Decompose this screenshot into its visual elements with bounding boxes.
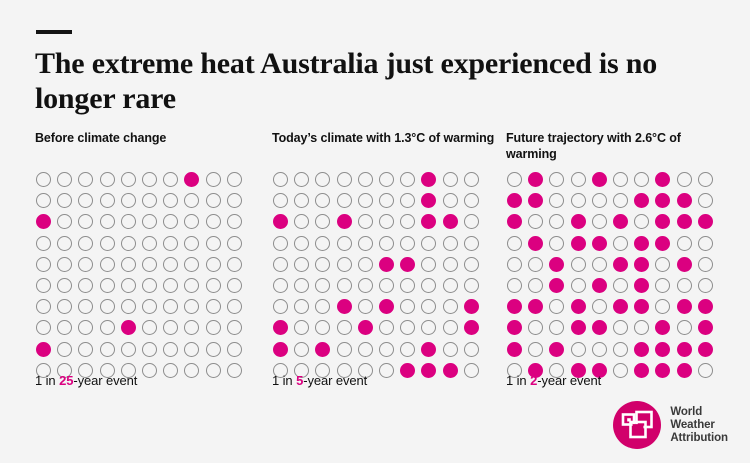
dot-empty — [184, 236, 199, 251]
dot-empty — [464, 193, 479, 208]
dot-filled — [677, 214, 692, 229]
dot-filled — [634, 363, 649, 378]
dot-empty — [337, 257, 352, 272]
dot-empty — [163, 278, 178, 293]
wwa-logo-icon — [613, 401, 661, 449]
squares-icon — [613, 401, 661, 449]
dot-empty — [337, 193, 352, 208]
dot-empty — [315, 172, 330, 187]
dot-empty — [443, 193, 458, 208]
dot-empty — [592, 193, 607, 208]
dot-filled — [634, 236, 649, 251]
dot-empty — [400, 278, 415, 293]
dot-empty — [507, 257, 522, 272]
dot-empty — [464, 236, 479, 251]
dot-filled — [528, 299, 543, 314]
dot-empty — [57, 236, 72, 251]
dot-filled — [677, 363, 692, 378]
dot-empty — [421, 320, 436, 335]
dot-filled — [315, 342, 330, 357]
dot-empty — [592, 342, 607, 357]
dot-empty — [78, 172, 93, 187]
dot-empty — [294, 172, 309, 187]
dot-empty — [613, 320, 628, 335]
dot-empty — [315, 299, 330, 314]
page-title: The extreme heat Australia just experien… — [35, 46, 715, 116]
dot-empty — [57, 172, 72, 187]
dot-empty — [36, 299, 51, 314]
dot-empty — [464, 363, 479, 378]
logo-line-1: World — [670, 406, 728, 419]
dot-filled — [655, 172, 670, 187]
dot-filled — [507, 320, 522, 335]
dot-empty — [57, 193, 72, 208]
dot-filled — [400, 257, 415, 272]
dot-empty — [400, 172, 415, 187]
panel-heading: Future trajectory with 2.6°C of warming — [506, 130, 731, 166]
dot-empty — [400, 193, 415, 208]
dot-empty — [421, 299, 436, 314]
dot-empty — [634, 214, 649, 229]
dot-filled — [613, 299, 628, 314]
dot-filled — [592, 278, 607, 293]
dot-empty — [184, 193, 199, 208]
dot-filled — [592, 236, 607, 251]
dot-empty — [315, 278, 330, 293]
dot-filled — [571, 236, 586, 251]
dot-empty — [36, 320, 51, 335]
dot-empty — [549, 214, 564, 229]
dot-empty — [655, 299, 670, 314]
dot-empty — [294, 236, 309, 251]
dot-filled — [549, 342, 564, 357]
dot-empty — [549, 193, 564, 208]
wwa-logo-text: World Weather Attribution — [670, 406, 728, 445]
dot-empty — [78, 342, 93, 357]
dot-filled — [592, 320, 607, 335]
dot-filled — [655, 363, 670, 378]
dot-empty — [163, 299, 178, 314]
dot-empty — [677, 236, 692, 251]
dot-filled — [528, 172, 543, 187]
dot-empty — [358, 172, 373, 187]
caption-number: 25 — [59, 373, 73, 388]
caption-prefix: 1 in — [506, 373, 530, 388]
dot-empty — [36, 172, 51, 187]
dot-empty — [227, 257, 242, 272]
dot-empty — [443, 320, 458, 335]
dot-empty — [100, 172, 115, 187]
dot-empty — [57, 299, 72, 314]
dot-empty — [142, 193, 157, 208]
dot-filled — [507, 299, 522, 314]
dot-filled — [36, 342, 51, 357]
dot-empty — [184, 214, 199, 229]
dot-empty — [163, 193, 178, 208]
dot-empty — [163, 320, 178, 335]
dot-empty — [592, 257, 607, 272]
dot-empty — [549, 172, 564, 187]
caption-prefix: 1 in — [35, 373, 59, 388]
dot-empty — [206, 363, 221, 378]
dot-empty — [100, 342, 115, 357]
dot-filled — [655, 214, 670, 229]
dot-empty — [698, 278, 713, 293]
dot-empty — [163, 214, 178, 229]
dot-empty — [400, 299, 415, 314]
dot-empty — [142, 342, 157, 357]
dot-filled — [655, 236, 670, 251]
dot-empty — [57, 257, 72, 272]
dot-empty — [57, 342, 72, 357]
title-rule — [36, 30, 72, 34]
dot-empty — [184, 257, 199, 272]
caption-prefix: 1 in — [272, 373, 296, 388]
dot-empty — [507, 236, 522, 251]
dot-empty — [163, 236, 178, 251]
dot-filled — [421, 214, 436, 229]
dot-empty — [294, 257, 309, 272]
dot-filled — [421, 193, 436, 208]
dot-empty — [36, 257, 51, 272]
dot-empty — [273, 257, 288, 272]
dot-empty — [206, 342, 221, 357]
dot-empty — [36, 236, 51, 251]
dot-empty — [163, 363, 178, 378]
dot-filled — [379, 257, 394, 272]
dot-filled — [634, 342, 649, 357]
dot-empty — [358, 257, 373, 272]
dot-empty — [571, 278, 586, 293]
dot-empty — [206, 257, 221, 272]
wwa-logo: World Weather Attribution — [613, 401, 728, 449]
dot-filled — [507, 342, 522, 357]
dot-empty — [121, 342, 136, 357]
dot-empty — [206, 193, 221, 208]
dot-empty — [507, 278, 522, 293]
dot-empty — [206, 299, 221, 314]
dot-empty — [142, 172, 157, 187]
dot-empty — [464, 278, 479, 293]
dot-filled — [379, 299, 394, 314]
caption-suffix: -year event — [73, 373, 137, 388]
logo-line-3: Attribution — [670, 432, 728, 445]
dot-empty — [142, 236, 157, 251]
dot-empty — [528, 320, 543, 335]
dot-empty — [163, 342, 178, 357]
dot-empty — [634, 172, 649, 187]
dot-empty — [379, 214, 394, 229]
dot-empty — [337, 278, 352, 293]
dot-empty — [337, 172, 352, 187]
dot-empty — [78, 236, 93, 251]
dot-empty — [184, 363, 199, 378]
dot-filled — [698, 320, 713, 335]
dot-filled — [121, 320, 136, 335]
dot-empty — [227, 236, 242, 251]
dot-empty — [78, 193, 93, 208]
dot-empty — [400, 236, 415, 251]
dot-empty — [227, 172, 242, 187]
dot-empty — [358, 342, 373, 357]
dot-empty — [379, 193, 394, 208]
dot-empty — [698, 257, 713, 272]
dot-empty — [443, 278, 458, 293]
dot-empty — [273, 278, 288, 293]
dot-empty — [549, 299, 564, 314]
dot-filled — [677, 299, 692, 314]
dot-empty — [698, 172, 713, 187]
dot-empty — [227, 278, 242, 293]
dot-empty — [206, 320, 221, 335]
dot-filled — [698, 299, 713, 314]
dot-empty — [337, 236, 352, 251]
dot-empty — [379, 320, 394, 335]
caption-suffix: -year event — [537, 373, 601, 388]
dot-filled — [421, 342, 436, 357]
dot-empty — [507, 172, 522, 187]
dot-empty — [379, 363, 394, 378]
dot-filled — [358, 320, 373, 335]
dot-empty — [358, 278, 373, 293]
dot-empty — [227, 320, 242, 335]
dot-empty — [358, 236, 373, 251]
dot-empty — [337, 342, 352, 357]
dot-empty — [528, 214, 543, 229]
dot-empty — [227, 299, 242, 314]
dot-empty — [528, 257, 543, 272]
dot-empty — [613, 342, 628, 357]
panel-heading: Before climate change — [35, 130, 260, 166]
dot-filled — [273, 214, 288, 229]
dot-filled — [655, 193, 670, 208]
dot-filled — [634, 278, 649, 293]
dot-empty — [142, 363, 157, 378]
dot-empty — [100, 214, 115, 229]
dot-empty — [315, 193, 330, 208]
dot-filled — [443, 214, 458, 229]
dot-empty — [163, 257, 178, 272]
dot-empty — [592, 214, 607, 229]
dot-filled — [571, 214, 586, 229]
dot-empty — [57, 320, 72, 335]
dot-empty — [184, 320, 199, 335]
dot-empty — [400, 214, 415, 229]
dot-filled — [421, 363, 436, 378]
dot-empty — [121, 257, 136, 272]
dot-empty — [358, 193, 373, 208]
dot-empty — [528, 342, 543, 357]
dot-filled — [36, 214, 51, 229]
dot-empty — [315, 236, 330, 251]
dot-empty — [443, 299, 458, 314]
dot-filled — [613, 257, 628, 272]
dot-empty — [315, 257, 330, 272]
dot-filled — [443, 363, 458, 378]
dot-empty — [142, 214, 157, 229]
dot-empty — [677, 320, 692, 335]
dot-empty — [273, 236, 288, 251]
dot-filled — [634, 257, 649, 272]
dot-empty — [100, 299, 115, 314]
dot-empty — [634, 320, 649, 335]
dot-empty — [294, 214, 309, 229]
dot-filled — [613, 214, 628, 229]
dot-filled — [528, 236, 543, 251]
dot-empty — [549, 236, 564, 251]
dot-empty — [443, 257, 458, 272]
dot-empty — [592, 299, 607, 314]
dot-filled — [677, 342, 692, 357]
dot-empty — [571, 172, 586, 187]
dot-empty — [464, 342, 479, 357]
dot-empty — [315, 320, 330, 335]
waffle-grid — [35, 170, 247, 382]
dot-empty — [655, 257, 670, 272]
panel-heading: Today’s climate with 1.3°C of warming — [272, 130, 497, 166]
dot-filled — [698, 342, 713, 357]
panel-before-climate-change: Before climate change 1 in 25-year event — [35, 130, 260, 166]
dot-empty — [464, 257, 479, 272]
dot-empty — [379, 278, 394, 293]
dot-filled — [421, 172, 436, 187]
dot-empty — [78, 299, 93, 314]
dot-empty — [121, 236, 136, 251]
dot-empty — [400, 320, 415, 335]
dot-empty — [184, 278, 199, 293]
dot-empty — [613, 278, 628, 293]
dot-empty — [613, 172, 628, 187]
dot-empty — [337, 320, 352, 335]
dot-empty — [613, 193, 628, 208]
dot-filled — [634, 299, 649, 314]
dot-empty — [358, 299, 373, 314]
dot-empty — [206, 214, 221, 229]
dot-empty — [227, 342, 242, 357]
dot-filled — [507, 214, 522, 229]
dot-empty — [443, 172, 458, 187]
dot-empty — [464, 172, 479, 187]
dot-filled — [273, 320, 288, 335]
dot-empty — [100, 257, 115, 272]
dot-empty — [78, 257, 93, 272]
dot-empty — [294, 342, 309, 357]
dot-empty — [206, 236, 221, 251]
dot-empty — [273, 172, 288, 187]
dot-empty — [698, 363, 713, 378]
panels-container: Before climate change 1 in 25-year event… — [0, 130, 750, 400]
dot-empty — [613, 363, 628, 378]
panel-caption: 1 in 25-year event — [35, 373, 137, 388]
dot-empty — [184, 299, 199, 314]
dot-empty — [273, 299, 288, 314]
dot-empty — [57, 214, 72, 229]
panel-caption: 1 in 5-year event — [272, 373, 367, 388]
dot-filled — [337, 299, 352, 314]
dot-empty — [100, 236, 115, 251]
dot-empty — [655, 278, 670, 293]
dot-empty — [78, 278, 93, 293]
dot-empty — [121, 278, 136, 293]
dot-empty — [100, 193, 115, 208]
dot-empty — [121, 193, 136, 208]
dot-empty — [421, 278, 436, 293]
dot-empty — [464, 214, 479, 229]
dot-filled — [273, 342, 288, 357]
dot-empty — [184, 342, 199, 357]
dot-filled — [655, 342, 670, 357]
dot-empty — [142, 257, 157, 272]
dot-empty — [677, 172, 692, 187]
panel-future-trajectory: Future trajectory with 2.6°C of warming … — [506, 130, 731, 166]
dot-filled — [634, 193, 649, 208]
dot-empty — [443, 342, 458, 357]
dot-empty — [571, 193, 586, 208]
dot-empty — [677, 278, 692, 293]
dot-empty — [528, 278, 543, 293]
dot-empty — [379, 172, 394, 187]
logo-line-2: Weather — [670, 419, 728, 432]
panel-caption: 1 in 2-year event — [506, 373, 601, 388]
waffle-grid — [272, 170, 484, 382]
caption-suffix: -year event — [303, 373, 367, 388]
dot-filled — [184, 172, 199, 187]
dot-empty — [206, 172, 221, 187]
panel-todays-climate: Today’s climate with 1.3°C of warming 1 … — [272, 130, 497, 166]
dot-filled — [507, 193, 522, 208]
dot-empty — [294, 278, 309, 293]
waffle-grid — [506, 170, 718, 382]
dot-filled — [677, 257, 692, 272]
dot-empty — [698, 193, 713, 208]
dot-filled — [464, 320, 479, 335]
dot-empty — [36, 278, 51, 293]
dot-filled — [464, 299, 479, 314]
dot-empty — [206, 278, 221, 293]
dot-empty — [315, 214, 330, 229]
dot-filled — [549, 278, 564, 293]
dot-empty — [571, 257, 586, 272]
dot-empty — [358, 214, 373, 229]
dot-empty — [273, 193, 288, 208]
dot-empty — [227, 193, 242, 208]
dot-empty — [57, 278, 72, 293]
dot-empty — [379, 342, 394, 357]
dot-empty — [549, 320, 564, 335]
dot-empty — [78, 320, 93, 335]
dot-empty — [227, 363, 242, 378]
dot-empty — [294, 299, 309, 314]
dot-empty — [698, 236, 713, 251]
dot-filled — [655, 320, 670, 335]
dot-empty — [227, 214, 242, 229]
dot-filled — [337, 214, 352, 229]
dot-filled — [571, 320, 586, 335]
dot-filled — [698, 214, 713, 229]
dot-empty — [571, 342, 586, 357]
dot-empty — [421, 257, 436, 272]
dot-filled — [677, 193, 692, 208]
dot-empty — [78, 214, 93, 229]
dot-empty — [142, 278, 157, 293]
dot-empty — [121, 299, 136, 314]
dot-empty — [100, 278, 115, 293]
dot-filled — [571, 299, 586, 314]
infographic-canvas: The extreme heat Australia just experien… — [0, 0, 750, 463]
dot-empty — [36, 193, 51, 208]
dot-empty — [142, 320, 157, 335]
dot-filled — [592, 172, 607, 187]
